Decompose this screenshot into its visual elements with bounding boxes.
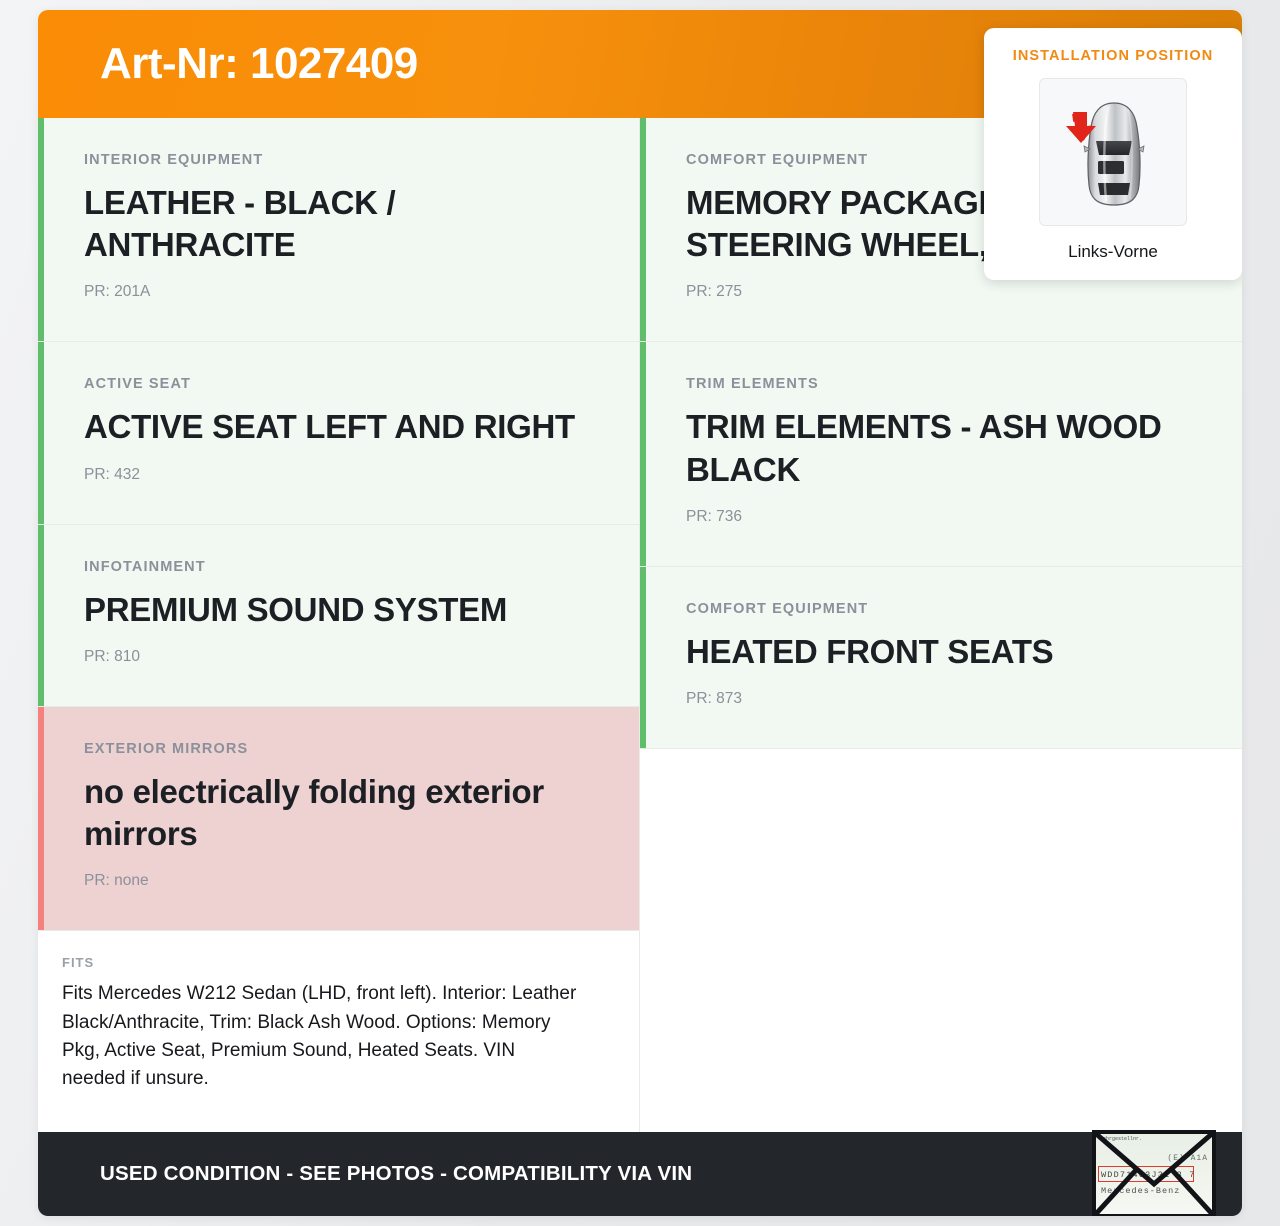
status-bar-positive bbox=[38, 342, 44, 523]
installation-position-card[interactable]: INSTALLATION POSITION bbox=[984, 28, 1242, 280]
feature-pr-code: PR: 810 bbox=[84, 648, 593, 666]
feature-title: no electrically folding exterior mirrors bbox=[84, 771, 593, 855]
feature-title: ACTIVE SEAT LEFT AND RIGHT bbox=[84, 406, 593, 448]
windshield bbox=[1096, 141, 1132, 155]
feature-row[interactable]: INFOTAINMENT PREMIUM SOUND SYSTEM PR: 81… bbox=[38, 525, 639, 707]
footer-condition-note: USED CONDITION - SEE PHOTOS - COMPATIBIL… bbox=[100, 1162, 692, 1186]
fits-label: FITS bbox=[62, 955, 593, 970]
feature-category-label: INFOTAINMENT bbox=[84, 559, 593, 575]
feature-row-negative[interactable]: EXTERIOR MIRRORS no electrically folding… bbox=[38, 707, 639, 931]
feature-row[interactable]: ACTIVE SEAT ACTIVE SEAT LEFT AND RIGHT P… bbox=[38, 342, 639, 524]
feature-pr-code: PR: none bbox=[84, 872, 593, 890]
feature-title: TRIM ELEMENTS - ASH WOOD BLACK bbox=[686, 406, 1196, 490]
fits-block: FITS Fits Mercedes W212 Sedan (LHD, fron… bbox=[38, 931, 639, 1122]
car-diagram-svg bbox=[1040, 79, 1188, 227]
feature-category-label: EXTERIOR MIRRORS bbox=[84, 741, 593, 757]
status-bar-positive bbox=[640, 342, 646, 565]
fits-text: Fits Mercedes W212 Sedan (LHD, front lef… bbox=[62, 980, 582, 1092]
feature-row[interactable]: COMFORT EQUIPMENT HEATED FRONT SEATS PR:… bbox=[640, 567, 1242, 749]
car-top-view-icon bbox=[1039, 78, 1187, 226]
envelope-over-vehicle-document-icon[interactable]: Fahrgestellnr. (E) A1A WDD71463J31 3 7 M… bbox=[1092, 1130, 1216, 1216]
feature-title: HEATED FRONT SEATS bbox=[686, 631, 1196, 673]
envelope-icon bbox=[1092, 1130, 1216, 1216]
left-column: INTERIOR EQUIPMENT LEATHER - BLACK / ANT… bbox=[38, 118, 640, 1132]
status-bar-positive bbox=[640, 567, 646, 748]
feature-row[interactable]: TRIM ELEMENTS TRIM ELEMENTS - ASH WOOD B… bbox=[640, 342, 1242, 566]
roof-panel bbox=[1098, 161, 1124, 174]
feature-pr-code: PR: 873 bbox=[686, 690, 1196, 708]
feature-category-label: COMFORT EQUIPMENT bbox=[686, 601, 1196, 617]
feature-row[interactable]: INTERIOR EQUIPMENT LEATHER - BLACK / ANT… bbox=[38, 118, 639, 342]
feature-pr-code: PR: 736 bbox=[686, 508, 1196, 526]
feature-pr-code: PR: 432 bbox=[84, 466, 593, 484]
page-title: Art-Nr: 1027409 bbox=[100, 42, 418, 86]
status-bar-negative bbox=[38, 707, 44, 930]
installation-position-title: INSTALLATION POSITION bbox=[1004, 48, 1222, 64]
status-bar-positive bbox=[38, 118, 44, 341]
feature-title: LEATHER - BLACK / ANTHRACITE bbox=[84, 182, 593, 266]
footer-bar: USED CONDITION - SEE PHOTOS - COMPATIBIL… bbox=[38, 1132, 1242, 1216]
feature-category-label: INTERIOR EQUIPMENT bbox=[84, 152, 593, 168]
left-column-filler bbox=[38, 1123, 639, 1132]
feature-pr-code: PR: 201A bbox=[84, 283, 593, 301]
listing-card: Art-Nr: 1027409 INTERIOR EQUIPMENT LEATH… bbox=[38, 10, 1242, 1216]
rear-window bbox=[1098, 183, 1130, 195]
installation-position-caption: Links-Vorne bbox=[1004, 242, 1222, 262]
feature-category-label: ACTIVE SEAT bbox=[84, 376, 593, 392]
status-bar-positive bbox=[640, 118, 646, 341]
feature-title: PREMIUM SOUND SYSTEM bbox=[84, 589, 593, 631]
status-bar-positive bbox=[38, 525, 44, 706]
feature-category-label: TRIM ELEMENTS bbox=[686, 376, 1196, 392]
right-column-filler bbox=[640, 749, 1242, 1132]
feature-pr-code: PR: 275 bbox=[686, 283, 1196, 301]
